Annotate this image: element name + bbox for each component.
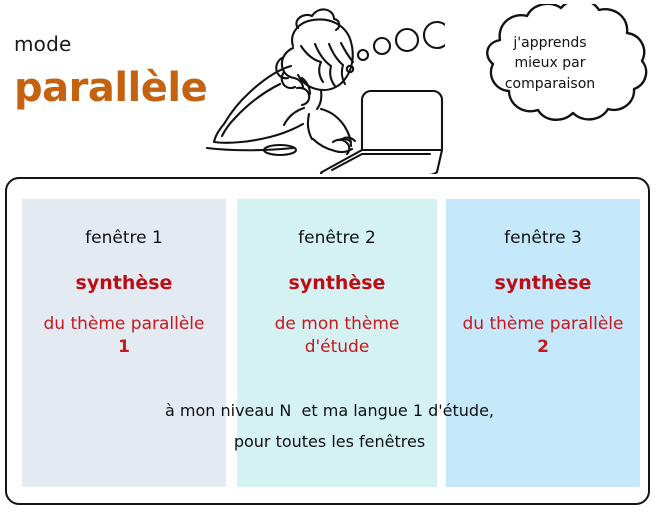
theme-description-3-plain: du thème parallèle xyxy=(446,313,640,336)
synthesis-heading-3: synthèse xyxy=(446,272,640,295)
mode-label: mode xyxy=(14,32,72,56)
theme-description-1-strong: 1 xyxy=(22,336,226,359)
theme-description-2: de mon thème d'étude xyxy=(237,313,437,359)
parallel-mode-frame: fenêtre 1 synthèse du thème parallèle 1 … xyxy=(5,177,650,505)
thought-bubble-line-3: comparaison xyxy=(470,74,630,94)
student-at-laptop-illustration xyxy=(205,2,445,174)
theme-description-1: du thème parallèle 1 xyxy=(22,313,226,359)
window-panel-3[interactable]: fenêtre 3 synthèse du thème parallèle 2 xyxy=(446,199,640,487)
header-zone: mode parallèle xyxy=(0,0,657,178)
thought-bubble-text: j'apprends mieux par comparaison xyxy=(470,33,630,94)
window-columns: fenêtre 1 synthèse du thème parallèle 1 … xyxy=(7,179,652,507)
window-panel-1[interactable]: fenêtre 1 synthèse du thème parallèle 1 xyxy=(22,199,226,487)
thought-bubble-line-2: mieux par xyxy=(470,53,630,73)
window-label-3: fenêtre 3 xyxy=(446,228,640,248)
thought-bubble-line-1: j'apprends xyxy=(470,33,630,53)
window-panel-1-body: fenêtre 1 synthèse du thème parallèle 1 xyxy=(22,199,226,359)
window-panel-3-body: fenêtre 3 synthèse du thème parallèle 2 xyxy=(446,199,640,359)
theme-description-3: du thème parallèle 2 xyxy=(446,313,640,359)
window-label-1: fenêtre 1 xyxy=(22,228,226,248)
theme-description-2-strong: d'étude xyxy=(237,336,437,359)
window-panel-2[interactable]: fenêtre 2 synthèse de mon thème d'étude xyxy=(237,199,437,487)
theme-description-2-plain: de mon thème xyxy=(237,313,437,336)
theme-description-1-plain: du thème parallèle xyxy=(22,313,226,336)
synthesis-heading-2: synthèse xyxy=(237,272,437,295)
mode-title: parallèle xyxy=(14,68,207,108)
synthesis-heading-1: synthèse xyxy=(22,272,226,295)
window-label-2: fenêtre 2 xyxy=(237,228,437,248)
window-panel-2-body: fenêtre 2 synthèse de mon thème d'étude xyxy=(237,199,437,359)
theme-description-3-strong: 2 xyxy=(446,336,640,359)
